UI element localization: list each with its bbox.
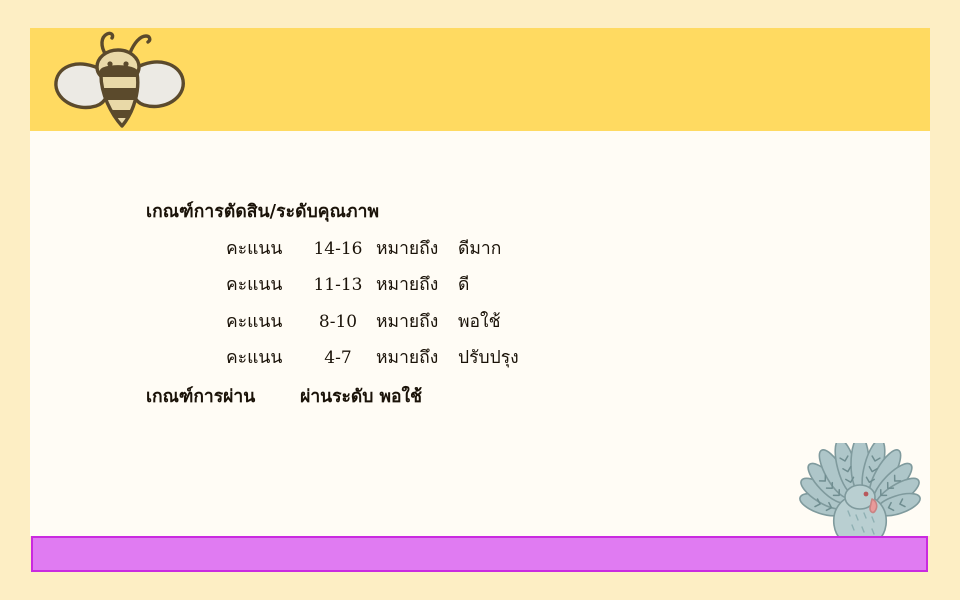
score-row-grade: พอใช้ xyxy=(448,314,500,332)
criteria-text-block: เกณฑ์การตัดสิน/ระดับคุณภาพ คะแนน 14-16 ห… xyxy=(146,200,846,406)
score-row-grade: ดี xyxy=(448,277,469,295)
slide-canvas: เกณฑ์การตัดสิน/ระดับคุณภาพ คะแนน 14-16 ห… xyxy=(0,0,960,600)
score-row-means: หมายถึง xyxy=(376,314,448,332)
pass-criteria-line: เกณฑ์การผ่าน ผ่านระดับ พอใช้ xyxy=(146,389,846,407)
score-row-label: คะแนน xyxy=(226,314,300,332)
pass-criteria-label: เกณฑ์การผ่าน xyxy=(146,389,294,407)
score-row-label: คะแนน xyxy=(226,241,300,259)
score-row-range: 4-7 xyxy=(300,350,376,367)
score-row-range: 11-13 xyxy=(300,277,376,294)
score-row: คะแนน 8-10 หมายถึง พอใช้ xyxy=(146,314,846,332)
score-row-means: หมายถึง xyxy=(376,277,448,295)
score-row-grade: ปรับปรุง xyxy=(448,350,519,368)
bee-icon xyxy=(44,20,194,130)
score-row-label: คะแนน xyxy=(226,350,300,368)
score-row-range: 8-10 xyxy=(300,314,376,331)
criteria-heading: เกณฑ์การตัดสิน/ระดับคุณภาพ xyxy=(146,200,846,222)
score-row: คะแนน 4-7 หมายถึง ปรับปรุง xyxy=(146,350,846,368)
score-row-means: หมายถึง xyxy=(376,350,448,368)
pass-criteria-value: ผ่านระดับ พอใช้ xyxy=(300,387,422,407)
score-row-range: 14-16 xyxy=(300,241,376,258)
score-row-grade: ดีมาก xyxy=(448,241,501,259)
footer-bar xyxy=(31,536,928,572)
score-row: คะแนน 14-16 หมายถึง ดีมาก xyxy=(146,241,846,259)
score-row-means: หมายถึง xyxy=(376,241,448,259)
score-row: คะแนน 11-13 หมายถึง ดี xyxy=(146,277,846,295)
score-row-label: คะแนน xyxy=(226,277,300,295)
